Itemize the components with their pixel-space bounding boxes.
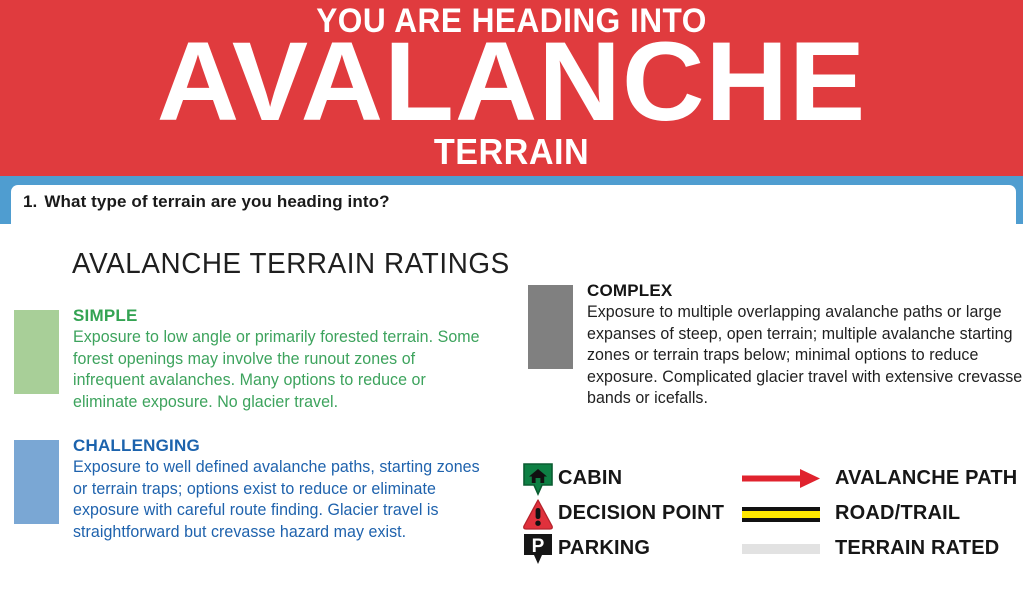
legend-label-cabin: CABIN: [558, 467, 622, 490]
rating-challenging-description: Exposure to well defined avalanche paths…: [73, 457, 490, 543]
legend-label-terrain-rated: TERRAIN RATED: [835, 537, 999, 560]
legend-label-decision-point: DECISION POINT: [558, 502, 724, 525]
gray-terrain-bar-icon: [742, 532, 826, 566]
section-title: AVALANCHE TERRAIN RATINGS: [72, 248, 510, 281]
rating-challenging-text: CHALLENGING Exposure to well defined ava…: [73, 435, 503, 543]
cabin-pin-icon: [522, 462, 554, 496]
banner-main-title: AVALANCHE: [0, 26, 1023, 138]
legend-label-avalanche-path: AVALANCHE PATH: [835, 467, 1017, 490]
rating-complex-description: Exposure to multiple overlapping avalanc…: [587, 302, 1023, 410]
question-panel: 1.What type of terrain are you heading i…: [11, 185, 1016, 224]
header-banner: YOU ARE HEADING INTO AVALANCHE TERRAIN: [0, 0, 1023, 176]
question-bar: 1.What type of terrain are you heading i…: [0, 176, 1023, 224]
rating-simple-swatch: [14, 310, 59, 394]
rating-complex-text: COMPLEX Exposure to multiple overlapping…: [587, 280, 1023, 410]
red-arrow-icon: [742, 462, 826, 496]
question-text: 1.What type of terrain are you heading i…: [23, 192, 390, 212]
banner-subtitle: TERRAIN: [26, 134, 998, 170]
rating-complex-swatch: [528, 285, 573, 369]
rating-complex-name: COMPLEX: [587, 280, 1023, 302]
rating-challenging-swatch: [14, 440, 59, 524]
question-number: 1.: [23, 192, 37, 212]
yellow-road-line-icon: [742, 497, 826, 531]
parking-pin-icon: P: [522, 532, 554, 566]
legend-label-road-trail: ROAD/TRAIL: [835, 502, 960, 525]
avalanche-terrain-infographic: YOU ARE HEADING INTO AVALANCHE TERRAIN 1…: [0, 0, 1023, 598]
svg-text:P: P: [532, 536, 545, 557]
question-label: What type of terrain are you heading int…: [44, 192, 389, 211]
rating-simple-name: SIMPLE: [73, 305, 503, 327]
legend-label-parking: PARKING: [558, 537, 650, 560]
rating-challenging-name: CHALLENGING: [73, 435, 503, 457]
rating-simple-description: Exposure to low angle or primarily fores…: [73, 327, 490, 413]
rating-simple-text: SIMPLE Exposure to low angle or primaril…: [73, 305, 503, 413]
decision-point-triangle-icon: [522, 497, 554, 531]
